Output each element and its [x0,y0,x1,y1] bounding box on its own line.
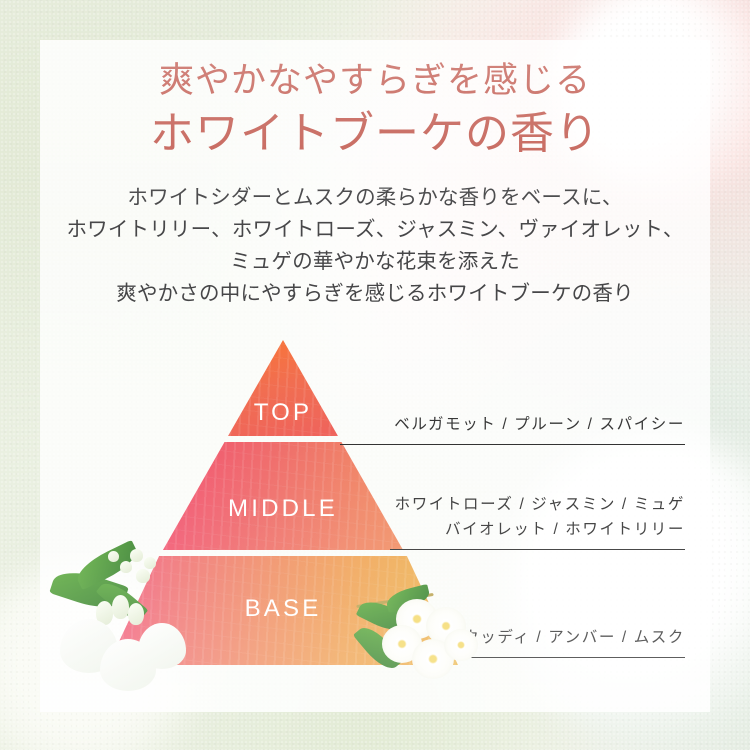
left-bouquet-decoration [38,545,218,695]
page-title: 爽やかなやすらぎを感じる ホワイトブーケの香り [40,58,710,162]
description-block: ホワイトシダーとムスクの柔らかな香りをベースに、 ホワイトリリー、ホワイトローズ… [40,182,710,310]
headline-line-1: 爽やかなやすらぎを感じる [40,58,710,104]
promo-banner: 爽やかなやすらぎを感じる ホワイトブーケの香り ホワイトシダーとムスクの柔らかな… [0,0,750,750]
lily-of-the-valley-bell-icon [136,569,150,583]
description-line-3: ミュゲの華やかな花束を添えた [40,246,710,278]
lily-of-the-valley-bell-icon [144,557,156,569]
headline-line-2: ホワイトブーケの香り [40,106,710,162]
notes-middle-rule [390,549,685,550]
flower-bud-icon [112,595,129,619]
jasmine-flower-icon [138,623,186,669]
flower-bud-icon [128,603,144,625]
notes-middle: ホワイトローズ / ジャスミン / ミュゲ バイオレット / ホワイトリリー [390,492,685,550]
description-line-2: ホワイトリリー、ホワイトローズ、ジャスミン、ヴァイオレット、 [40,214,710,246]
lily-of-the-valley-bell-icon [130,549,143,562]
right-bouquet-decoration [352,585,502,695]
description-line-4: 爽やかさの中にやすらぎを感じるホワイトブーケの香り [40,278,710,310]
lily-of-the-valley-bell-icon [108,551,119,562]
description-line-1: ホワイトシダーとムスクの柔らかな香りをベースに、 [40,182,710,214]
notes-top-line-1: ベルガモット / プルーン / スパイシー [340,412,685,437]
lily-of-the-valley-bell-icon [120,561,132,573]
notes-middle-line-1: ホワイトローズ / ジャスミン / ミュゲ [390,492,685,517]
jasmine-flower-icon [444,629,478,661]
notes-top-rule [340,444,685,445]
notes-top: ベルガモット / プルーン / スパイシー [340,412,685,445]
notes-middle-line-2: バイオレット / ホワイトリリー [390,517,685,542]
